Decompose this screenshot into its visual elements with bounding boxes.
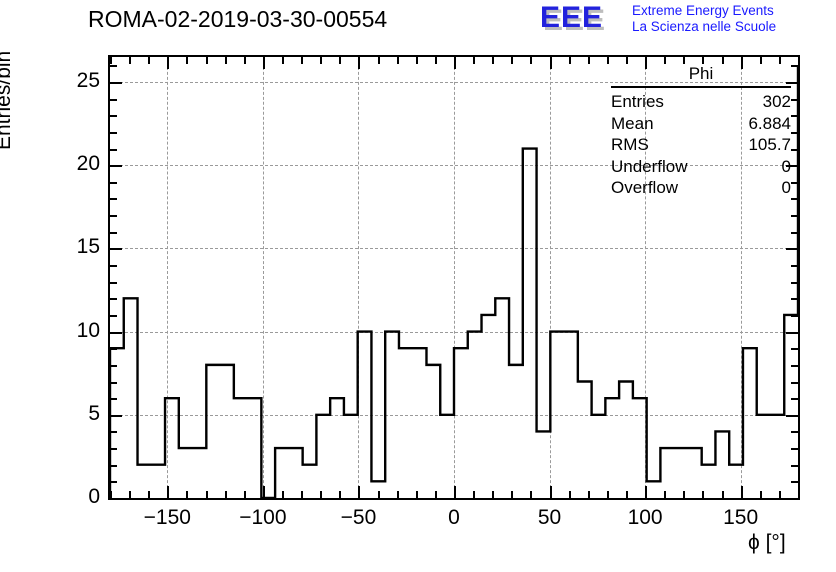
- stats-value: 302: [763, 92, 791, 112]
- y-tick-1: [110, 481, 117, 483]
- x-tick-50: [550, 486, 552, 498]
- x-tick-top--70: [320, 57, 322, 64]
- y-tick-right-0: [786, 498, 798, 500]
- x-tick-top--160: [148, 57, 150, 64]
- x-tick-top-40: [530, 57, 532, 64]
- y-tick-2: [110, 465, 117, 467]
- y-tick-label-15: 15: [0, 235, 100, 259]
- x-tick--160: [148, 491, 150, 498]
- stats-row: Overflow0: [611, 178, 791, 199]
- x-tick--20: [416, 491, 418, 498]
- y-tick-20: [110, 165, 122, 167]
- y-tick-18: [110, 198, 117, 200]
- x-tick-top--100: [263, 57, 265, 69]
- x-tick--100: [263, 486, 265, 498]
- x-tick--180: [110, 491, 112, 498]
- eee-logo-line1: Extreme Energy Events: [632, 3, 776, 19]
- eee-logo-text: Extreme Energy Events La Scienza nelle S…: [632, 3, 776, 34]
- eee-logo: EEE Extreme Energy Events La Scienza nel…: [540, 2, 832, 36]
- stats-value: 0: [782, 157, 791, 177]
- y-tick-right-13: [791, 282, 798, 284]
- y-axis-title: Entries/bin: [0, 51, 16, 150]
- y-tick-right-5: [786, 415, 798, 417]
- x-axis-title: ϕ [°]: [748, 531, 786, 555]
- x-tick-top--80: [301, 57, 303, 64]
- x-tick-120: [683, 491, 685, 498]
- x-tick-150: [741, 486, 743, 498]
- x-tick--130: [206, 491, 208, 498]
- y-tick-24: [110, 99, 117, 101]
- y-tick-label-10: 10: [0, 319, 100, 343]
- x-tick-top-0: [454, 57, 456, 69]
- stats-row: Underflow0: [611, 157, 791, 178]
- x-tick--150: [167, 486, 169, 498]
- y-tick-8: [110, 365, 117, 367]
- y-tick-19: [110, 182, 117, 184]
- x-tick-170: [779, 491, 781, 498]
- y-tick-13: [110, 282, 117, 284]
- y-tick-12: [110, 298, 117, 300]
- x-tick--80: [301, 491, 303, 498]
- x-tick-130: [702, 491, 704, 498]
- x-tick--40: [378, 491, 380, 498]
- y-tick-right-16: [791, 232, 798, 234]
- y-tick-label-5: 5: [0, 402, 100, 426]
- x-tick--110: [244, 491, 246, 498]
- stats-box: Phi Entries302Mean6.884RMS105.7Underflow…: [606, 64, 796, 200]
- y-tick-right-8: [791, 365, 798, 367]
- stats-row: Entries302: [611, 92, 791, 113]
- x-tick-top--130: [206, 57, 208, 64]
- x-tick-top--140: [186, 57, 188, 64]
- y-tick-right-3: [791, 448, 798, 450]
- x-tick-100: [645, 486, 647, 498]
- y-tick-right-9: [791, 348, 798, 350]
- x-tick-top-70: [588, 57, 590, 64]
- y-tick-9: [110, 348, 117, 350]
- x-tick-top-20: [492, 57, 494, 64]
- y-tick-right-1: [791, 481, 798, 483]
- x-tick-top-110: [664, 57, 666, 64]
- y-tick-right-4: [791, 431, 798, 433]
- histogram-canvas: ROMA-02-2019-03-30-00554 EEE Extreme Ene…: [0, 0, 836, 572]
- y-tick-22: [110, 132, 117, 134]
- stats-value: 0: [782, 178, 791, 198]
- y-tick-26: [110, 65, 117, 67]
- x-tick-top-140: [722, 57, 724, 64]
- x-tick-160: [760, 491, 762, 498]
- y-tick-right-14: [791, 265, 798, 267]
- x-tick-top-180: [798, 57, 800, 64]
- stats-title: Phi: [606, 64, 796, 84]
- x-tick-60: [569, 491, 571, 498]
- y-tick-14: [110, 265, 117, 267]
- x-tick--90: [282, 491, 284, 498]
- y-tick-label-20: 20: [0, 152, 100, 176]
- stats-key: RMS: [611, 135, 649, 155]
- y-tick-right-2: [791, 465, 798, 467]
- stats-key: Entries: [611, 92, 664, 112]
- y-tick-15: [110, 248, 122, 250]
- x-tick-top-90: [626, 57, 628, 64]
- x-tick-top--170: [129, 57, 131, 64]
- x-tick-20: [492, 491, 494, 498]
- y-tick-10: [110, 332, 122, 334]
- eee-logo-letters: EEE: [540, 3, 603, 33]
- x-tick-top-10: [473, 57, 475, 64]
- x-tick-top--90: [282, 57, 284, 64]
- x-tick-top-170: [779, 57, 781, 64]
- stats-value: 6.884: [748, 114, 791, 134]
- page-title: ROMA-02-2019-03-30-00554: [88, 6, 387, 33]
- y-tick-3: [110, 448, 117, 450]
- y-tick-6: [110, 398, 117, 400]
- x-tick--170: [129, 491, 131, 498]
- y-tick-right-12: [791, 298, 798, 300]
- stats-key: Mean: [611, 114, 654, 134]
- x-tick-top--120: [225, 57, 227, 64]
- y-tick-0: [110, 498, 122, 500]
- x-tick--120: [225, 491, 227, 498]
- y-tick-7: [110, 382, 117, 384]
- x-tick-top-80: [607, 57, 609, 64]
- x-tick-70: [588, 491, 590, 498]
- x-tick-label-150: 150: [681, 506, 801, 530]
- x-tick-top--20: [416, 57, 418, 64]
- stats-key: Overflow: [611, 178, 678, 198]
- x-tick-80: [607, 491, 609, 498]
- x-tick--30: [397, 491, 399, 498]
- x-tick-top-60: [569, 57, 571, 64]
- x-tick-top-30: [511, 57, 513, 64]
- x-tick--140: [186, 491, 188, 498]
- y-tick-right-11: [791, 315, 798, 317]
- x-tick-top--110: [244, 57, 246, 64]
- y-tick-25: [110, 82, 122, 84]
- y-tick-23: [110, 115, 117, 117]
- x-tick-top--10: [435, 57, 437, 64]
- x-tick-30: [511, 491, 513, 498]
- x-tick-top-120: [683, 57, 685, 64]
- x-tick-top-130: [702, 57, 704, 64]
- y-tick-label-0: 0: [0, 485, 100, 509]
- x-tick-top--60: [339, 57, 341, 64]
- y-tick-11: [110, 315, 117, 317]
- x-tick-top--150: [167, 57, 169, 69]
- y-tick-right-7: [791, 382, 798, 384]
- stats-row: Mean6.884: [611, 114, 791, 135]
- y-tick-right-15: [786, 248, 798, 250]
- y-tick-right-10: [786, 332, 798, 334]
- x-tick-110: [664, 491, 666, 498]
- stats-key: Underflow: [611, 157, 688, 177]
- x-tick-0: [454, 486, 456, 498]
- y-tick-17: [110, 215, 117, 217]
- stats-row: RMS105.7: [611, 135, 791, 156]
- x-tick-top--50: [358, 57, 360, 69]
- y-tick-16: [110, 232, 117, 234]
- x-tick-140: [722, 491, 724, 498]
- x-tick--50: [358, 486, 360, 498]
- x-tick-top--40: [378, 57, 380, 64]
- y-tick-21: [110, 149, 117, 151]
- y-tick-4: [110, 431, 117, 433]
- x-tick-top-160: [760, 57, 762, 64]
- x-tick-top--30: [397, 57, 399, 64]
- x-tick-180: [798, 491, 800, 498]
- eee-logo-line2: La Scienza nelle Scuole: [632, 19, 776, 35]
- x-tick-10: [473, 491, 475, 498]
- y-tick-right-6: [791, 398, 798, 400]
- y-tick-right-17: [791, 215, 798, 217]
- x-tick-90: [626, 491, 628, 498]
- stats-divider: [611, 86, 791, 88]
- x-tick-top-50: [550, 57, 552, 69]
- x-tick--10: [435, 491, 437, 498]
- x-tick--60: [339, 491, 341, 498]
- x-tick-40: [530, 491, 532, 498]
- x-tick-top--180: [110, 57, 112, 64]
- stats-value: 105.7: [748, 135, 791, 155]
- y-tick-5: [110, 415, 122, 417]
- x-tick--70: [320, 491, 322, 498]
